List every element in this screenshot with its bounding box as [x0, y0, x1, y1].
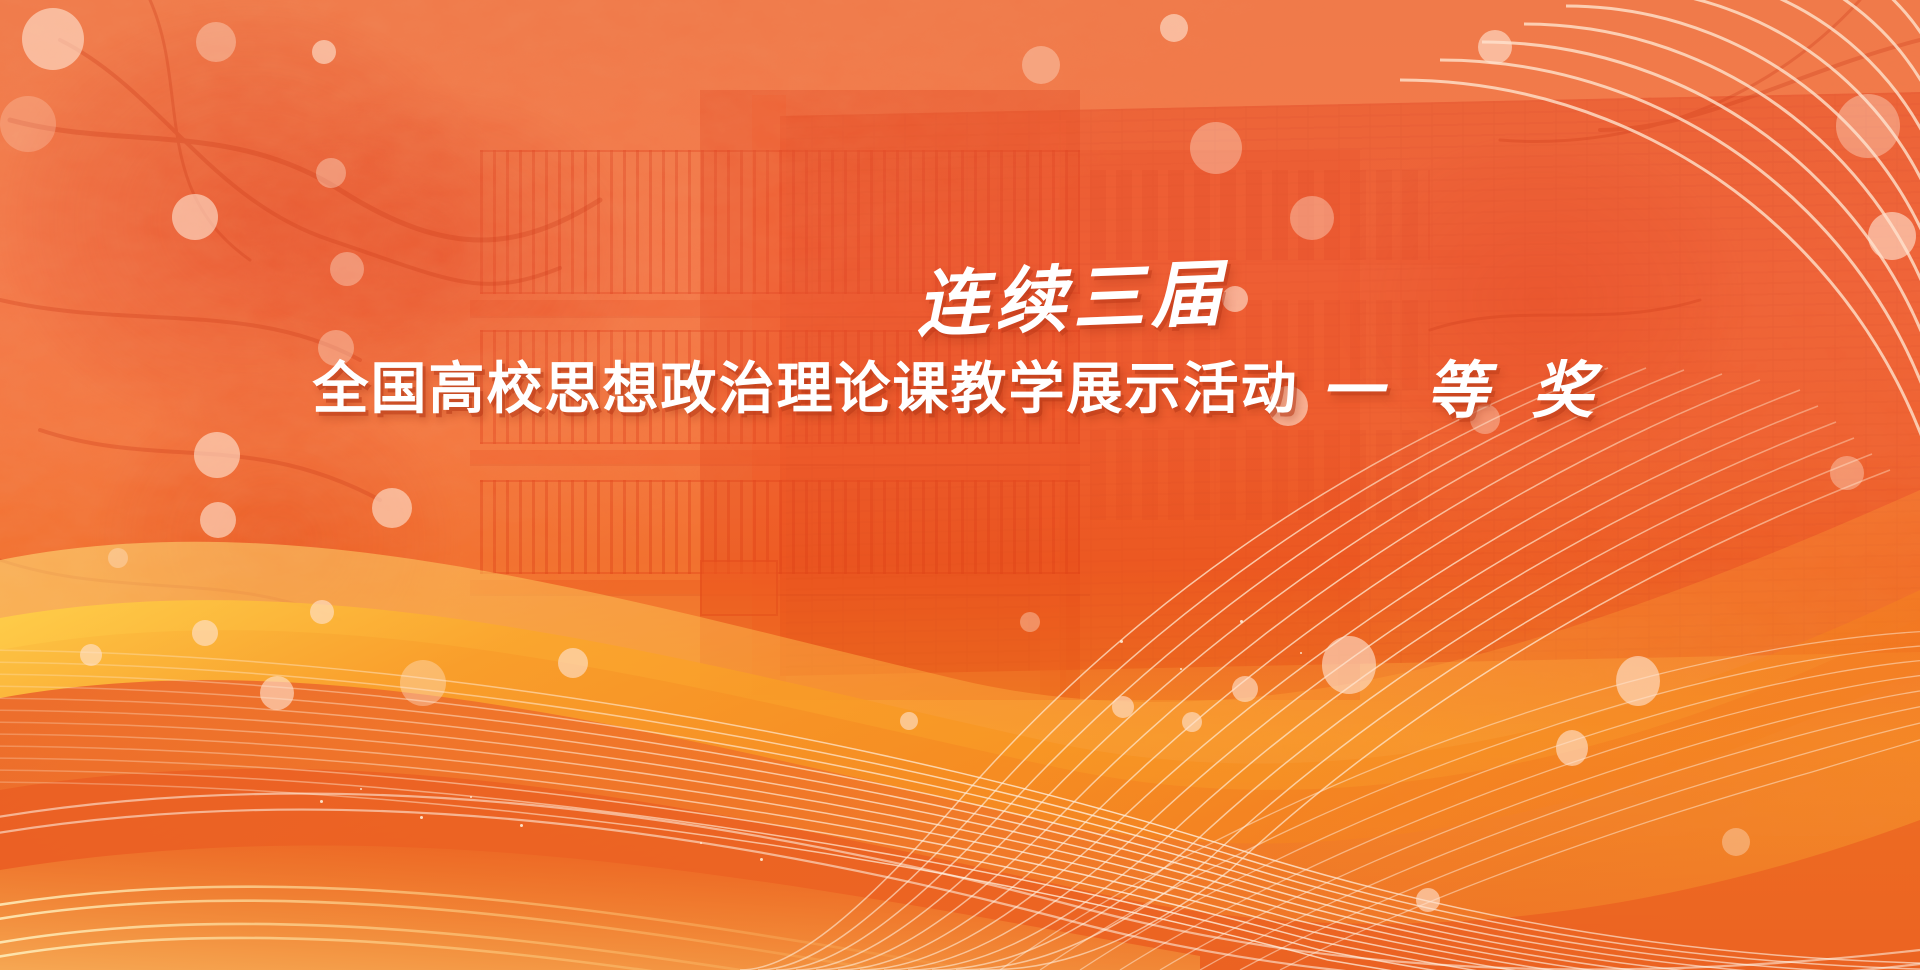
sparkle: [520, 824, 523, 827]
sparkle: [470, 796, 472, 798]
sparkle: [420, 816, 423, 819]
sparkle: [760, 858, 763, 861]
sparkle: [360, 788, 362, 790]
banner-stage: 连续三届 全国高校思想政治理论课教学展示活动 一 等 奖: [0, 0, 1920, 970]
sparkle: [1120, 640, 1123, 643]
headline-award-text: 一 等 奖: [1320, 340, 1607, 430]
headline-row: 全国高校思想政治理论课教学展示活动 一 等 奖: [0, 336, 1920, 426]
sparkle: [320, 800, 323, 803]
sparkle: [1300, 652, 1302, 654]
sparkle: [1240, 620, 1243, 623]
sparkle-particles: [0, 0, 1920, 970]
headline-main-text: 全国高校思想政治理论课教学展示活动: [312, 344, 1298, 425]
sparkle: [700, 842, 702, 844]
sparkle: [1180, 668, 1182, 670]
